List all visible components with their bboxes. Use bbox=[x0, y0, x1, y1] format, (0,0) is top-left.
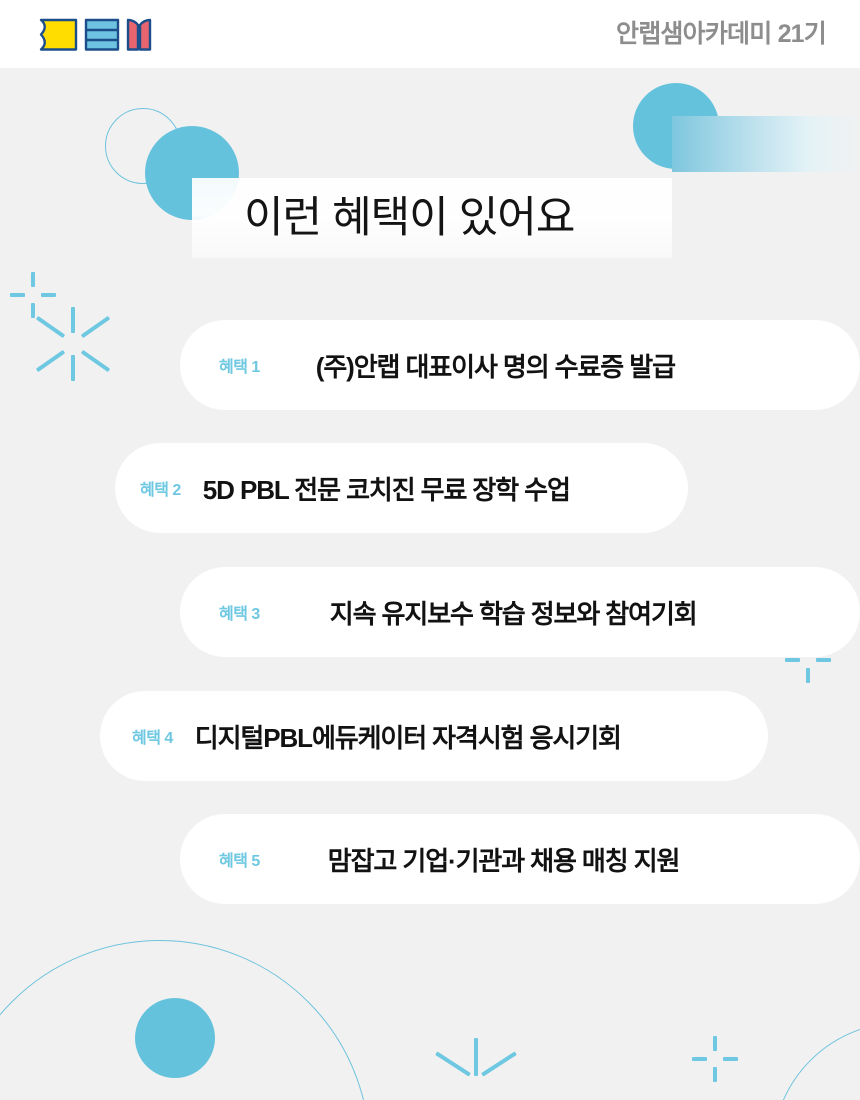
benefit-row-4[interactable]: 혜택 4 디지털PBL에듀케이터 자격시험 응시기회 bbox=[100, 691, 768, 781]
benefit-tag-2: 혜택 2 bbox=[140, 476, 181, 500]
benefit-tag-3: 혜택 3 bbox=[219, 600, 260, 624]
benefit-text-1: (주)안랩 대표이사 명의 수료증 발급 bbox=[316, 347, 675, 384]
brand-title: 안랩샘아카데미 21기 bbox=[616, 16, 826, 52]
benefit-tag-4: 혜택 4 bbox=[132, 724, 173, 748]
promo-page: 안랩샘아카데미 21기 이런 혜택이 있어요 혜택 1 (주)안랩 대표이사 명… bbox=[0, 0, 860, 1100]
benefit-tag-5: 혜택 5 bbox=[219, 847, 260, 871]
benefit-row-3[interactable]: 혜택 3 지속 유지보수 학습 정보와 참여기회 bbox=[180, 567, 860, 657]
benefit-row-5[interactable]: 혜택 5 맘잡고 기업·기관과 채용 매칭 지원 bbox=[180, 814, 860, 904]
benefit-text-4: 디지털PBL에듀케이터 자격시험 응시기회 bbox=[195, 718, 621, 755]
benefit-row-2[interactable]: 혜택 2 5D PBL 전문 코치진 무료 장학 수업 bbox=[115, 443, 688, 533]
benefit-text-2: 5D PBL 전문 코치진 무료 장학 수업 bbox=[203, 470, 570, 507]
page-header: 안랩샘아카데미 21기 bbox=[0, 0, 860, 68]
benefit-row-1[interactable]: 혜택 1 (주)안랩 대표이사 명의 수료증 발급 bbox=[180, 320, 860, 410]
sem-book-logo bbox=[32, 15, 160, 55]
benefit-text-3: 지속 유지보수 학습 정보와 참여기회 bbox=[330, 594, 697, 631]
benefit-text-5: 맘잡고 기업·기관과 채용 매칭 지원 bbox=[328, 841, 680, 878]
benefit-tag-1: 혜택 1 bbox=[219, 353, 260, 377]
benefit-list: 혜택 1 (주)안랩 대표이사 명의 수료증 발급 혜택 2 5D PBL 전문… bbox=[0, 0, 860, 1100]
